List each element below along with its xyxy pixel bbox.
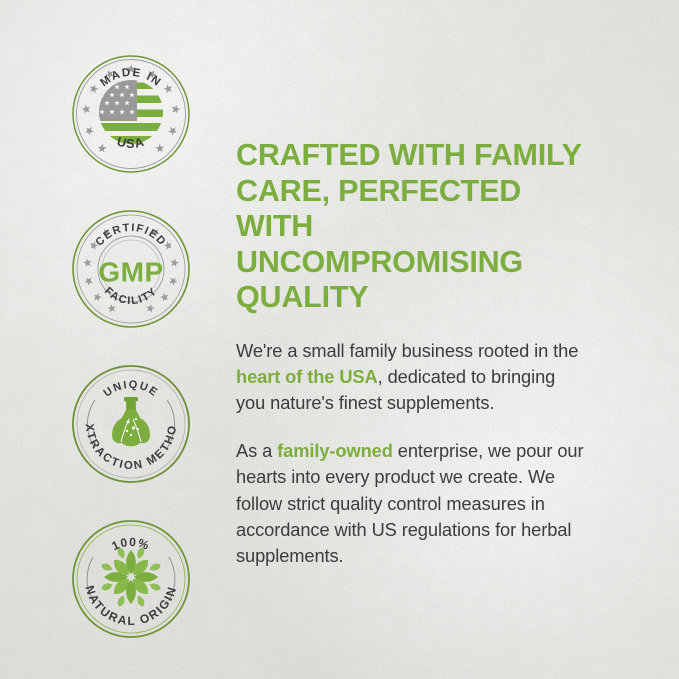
paragraph-1-highlight: heart of the USA bbox=[236, 366, 378, 387]
badge-natural-origin: 100% NATURAL ORIGIN bbox=[71, 519, 191, 639]
flask-leaf-icon bbox=[112, 397, 150, 446]
gmp-text-icon: GMP bbox=[98, 257, 163, 288]
paragraph-1-segment-1: We're a small family business rooted in … bbox=[236, 340, 578, 361]
paragraph-2-highlight: family-owned bbox=[277, 440, 393, 461]
headline-line-2: CARE, PERFECTED WITH bbox=[236, 174, 521, 244]
content-column: CRAFTED WITH FAMILY CARE, PERFECTED WITH… bbox=[236, 138, 594, 570]
badge-gmp-certified-facility: GMP CERTIFIED FACILITY bbox=[71, 209, 191, 329]
leaf-rosette-icon bbox=[100, 546, 162, 608]
paragraph-2: As a family-owned enterprise, we pour ou… bbox=[236, 438, 588, 570]
badge-made-in-usa: MADE IN USA bbox=[71, 54, 191, 174]
badge-unique-extraction-method: UNIQUE EXTRACTION METHOD bbox=[71, 364, 191, 484]
paragraph-2-segment-1: As a bbox=[236, 440, 277, 461]
badge-top-text: CERTIFIED bbox=[93, 222, 168, 249]
headline-line-3: UNCOMPROMISING bbox=[236, 245, 523, 279]
badge-bottom-text: USA bbox=[115, 134, 147, 151]
svg-text:FACILITY: FACILITY bbox=[102, 285, 160, 307]
paragraph-1: We're a small family business rooted in … bbox=[236, 338, 588, 417]
poster-canvas: MADE IN USA bbox=[0, 0, 679, 679]
svg-text:CERTIFIED: CERTIFIED bbox=[93, 222, 168, 249]
headline-line-1: CRAFTED WITH FAMILY bbox=[236, 138, 582, 172]
trust-badge-column: MADE IN USA bbox=[71, 54, 191, 674]
page-title: CRAFTED WITH FAMILY CARE, PERFECTED WITH… bbox=[236, 138, 606, 316]
headline-line-4: QUALITY bbox=[236, 280, 368, 314]
svg-text:UNIQUE: UNIQUE bbox=[101, 379, 160, 400]
badge-top-text: UNIQUE bbox=[101, 379, 160, 400]
badge-bottom-text: FACILITY bbox=[102, 285, 160, 307]
svg-text:USA: USA bbox=[115, 134, 147, 151]
